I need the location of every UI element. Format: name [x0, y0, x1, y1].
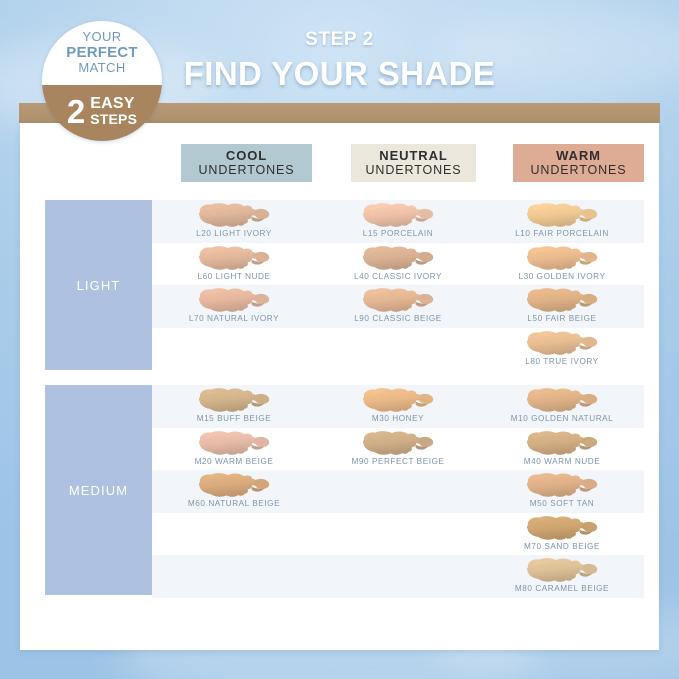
shade-cell[interactable]: M20 WARM BEIGE — [152, 428, 316, 471]
foundation-swatch-icon — [358, 429, 438, 457]
table-row: L60 LIGHT NUDE L40 CLASSIC IVORY L30 GOL… — [152, 243, 644, 286]
foundation-swatch-icon — [522, 329, 602, 357]
column-header-neutral: NEUTRAL UNDERTONES — [351, 144, 476, 182]
shade-name-label: L30 GOLDEN IVORY — [519, 272, 606, 281]
badge-word-steps: STEPS — [90, 112, 137, 126]
shade-name-label: L60 LIGHT NUDE — [197, 272, 270, 281]
shade-cell[interactable]: M10 GOLDEN NATURAL — [480, 385, 644, 428]
badge-line-3: MATCH — [78, 61, 125, 76]
foundation-swatch-icon — [522, 514, 602, 542]
shade-cell[interactable]: L20 LIGHT IVORY — [152, 200, 316, 243]
table-row: L70 NATURAL IVORY L90 CLASSIC BEIGE L50 … — [152, 285, 644, 328]
shade-cell[interactable]: M90 PERFECT BEIGE — [316, 428, 480, 471]
foundation-swatch-icon — [522, 556, 602, 584]
shade-name-label: M40 WARM NUDE — [524, 457, 600, 466]
shade-name-label: M70 SAND BEIGE — [524, 542, 600, 551]
column-header-warm-title: WARM — [556, 149, 601, 164]
shade-cell[interactable]: L60 LIGHT NUDE — [152, 243, 316, 286]
shade-cell[interactable]: L15 PORCELAIN — [316, 200, 480, 243]
shade-cell[interactable]: M60 NATURAL BEIGE — [152, 470, 316, 513]
shade-name-label: L90 CLASSIC BEIGE — [354, 314, 442, 323]
badge-line-2: PERFECT — [66, 45, 137, 62]
shade-grid-light: L20 LIGHT IVORY L15 PORCELAIN L10 FAIR P… — [152, 200, 644, 370]
shade-cell[interactable]: L90 CLASSIC BEIGE — [316, 285, 480, 328]
column-header-cool: COOL UNDERTONES — [181, 144, 312, 182]
shade-cell[interactable]: M40 WARM NUDE — [480, 428, 644, 471]
table-row: M15 BUFF BEIGE M30 HONEY M10 GOLDEN NATU… — [152, 385, 644, 428]
shade-name-label: M20 WARM BEIGE — [195, 457, 274, 466]
table-row: M20 WARM BEIGE M90 PERFECT BEIGE M40 WAR… — [152, 428, 644, 471]
shade-name-label: L20 LIGHT IVORY — [196, 229, 272, 238]
shade-cell[interactable]: L80 TRUE IVORY — [480, 328, 644, 371]
shade-cell-empty — [152, 328, 316, 371]
section-label-medium: MEDIUM — [45, 385, 152, 595]
foundation-swatch-icon — [522, 429, 602, 457]
column-header-warm-subtitle: UNDERTONES — [530, 163, 626, 177]
shade-name-label: L70 NATURAL IVORY — [189, 314, 279, 323]
shade-grid-medium: M15 BUFF BEIGE M30 HONEY M10 GOLDEN NATU… — [152, 385, 644, 598]
table-row: L20 LIGHT IVORY L15 PORCELAIN L10 FAIR P… — [152, 200, 644, 243]
foundation-swatch-icon — [522, 286, 602, 314]
shade-cell[interactable]: L40 CLASSIC IVORY — [316, 243, 480, 286]
foundation-swatch-icon — [522, 386, 602, 414]
perfect-match-badge: YOUR PERFECT MATCH 2 EASY STEPS — [42, 21, 162, 141]
shade-cell[interactable]: M30 HONEY — [316, 385, 480, 428]
column-header-cool-title: COOL — [226, 149, 267, 164]
shade-name-label: L10 FAIR PORCELAIN — [515, 229, 609, 238]
foundation-swatch-icon — [522, 244, 602, 272]
foundation-swatch-icon — [358, 201, 438, 229]
shade-name-label: L40 CLASSIC IVORY — [354, 272, 442, 281]
foundation-swatch-icon — [194, 286, 274, 314]
badge-step-number: 2 — [67, 95, 85, 128]
foundation-swatch-icon — [194, 386, 274, 414]
column-header-neutral-subtitle: UNDERTONES — [365, 163, 461, 177]
shade-name-label: M15 BUFF BEIGE — [197, 414, 272, 423]
foundation-swatch-icon — [194, 471, 274, 499]
shade-name-label: M30 HONEY — [372, 414, 424, 423]
foundation-swatch-icon — [358, 286, 438, 314]
badge-word-easy: EASY — [90, 96, 137, 112]
shade-name-label: M10 GOLDEN NATURAL — [511, 414, 614, 423]
shade-cell[interactable]: L50 FAIR BEIGE — [480, 285, 644, 328]
foundation-swatch-icon — [522, 471, 602, 499]
shade-cell-empty — [316, 470, 480, 513]
foundation-swatch-icon — [194, 201, 274, 229]
shade-cell[interactable]: M50 SOFT TAN — [480, 470, 644, 513]
foundation-swatch-icon — [358, 244, 438, 272]
shade-cell-empty — [316, 555, 480, 598]
shade-cell[interactable]: L10 FAIR PORCELAIN — [480, 200, 644, 243]
badge-line-1: YOUR — [82, 30, 121, 45]
shade-cell[interactable]: L70 NATURAL IVORY — [152, 285, 316, 328]
table-row: M70 SAND BEIGE — [152, 513, 644, 556]
shade-name-label: M50 SOFT TAN — [530, 499, 594, 508]
column-header-cool-subtitle: UNDERTONES — [198, 163, 294, 177]
shade-cell[interactable]: M80 CARAMEL BEIGE — [480, 555, 644, 598]
foundation-swatch-icon — [194, 429, 274, 457]
column-header-neutral-title: NEUTRAL — [379, 149, 447, 164]
foundation-swatch-icon — [522, 201, 602, 229]
column-header-warm: WARM UNDERTONES — [513, 144, 644, 182]
badge-steps-words: EASY STEPS — [90, 96, 137, 126]
shade-cell-empty — [316, 328, 480, 371]
shade-name-label: M60 NATURAL BEIGE — [188, 499, 280, 508]
table-row: L80 TRUE IVORY — [152, 328, 644, 371]
shade-cell[interactable]: L30 GOLDEN IVORY — [480, 243, 644, 286]
shade-cell[interactable]: M15 BUFF BEIGE — [152, 385, 316, 428]
foundation-swatch-icon — [194, 244, 274, 272]
shade-cell[interactable]: M70 SAND BEIGE — [480, 513, 644, 556]
shade-name-label: L15 PORCELAIN — [363, 229, 433, 238]
table-row: M80 CARAMEL BEIGE — [152, 555, 644, 598]
shade-cell-empty — [152, 513, 316, 556]
shade-cell-empty — [316, 513, 480, 556]
shade-cell-empty — [152, 555, 316, 598]
shade-name-label: M80 CARAMEL BEIGE — [515, 584, 609, 593]
foundation-swatch-icon — [358, 386, 438, 414]
shade-name-label: L50 FAIR BEIGE — [527, 314, 596, 323]
shade-name-label: M90 PERFECT BEIGE — [352, 457, 445, 466]
table-row: M60 NATURAL BEIGE M50 SOFT TAN — [152, 470, 644, 513]
section-label-light: LIGHT — [45, 200, 152, 370]
shade-name-label: L80 TRUE IVORY — [525, 357, 598, 366]
